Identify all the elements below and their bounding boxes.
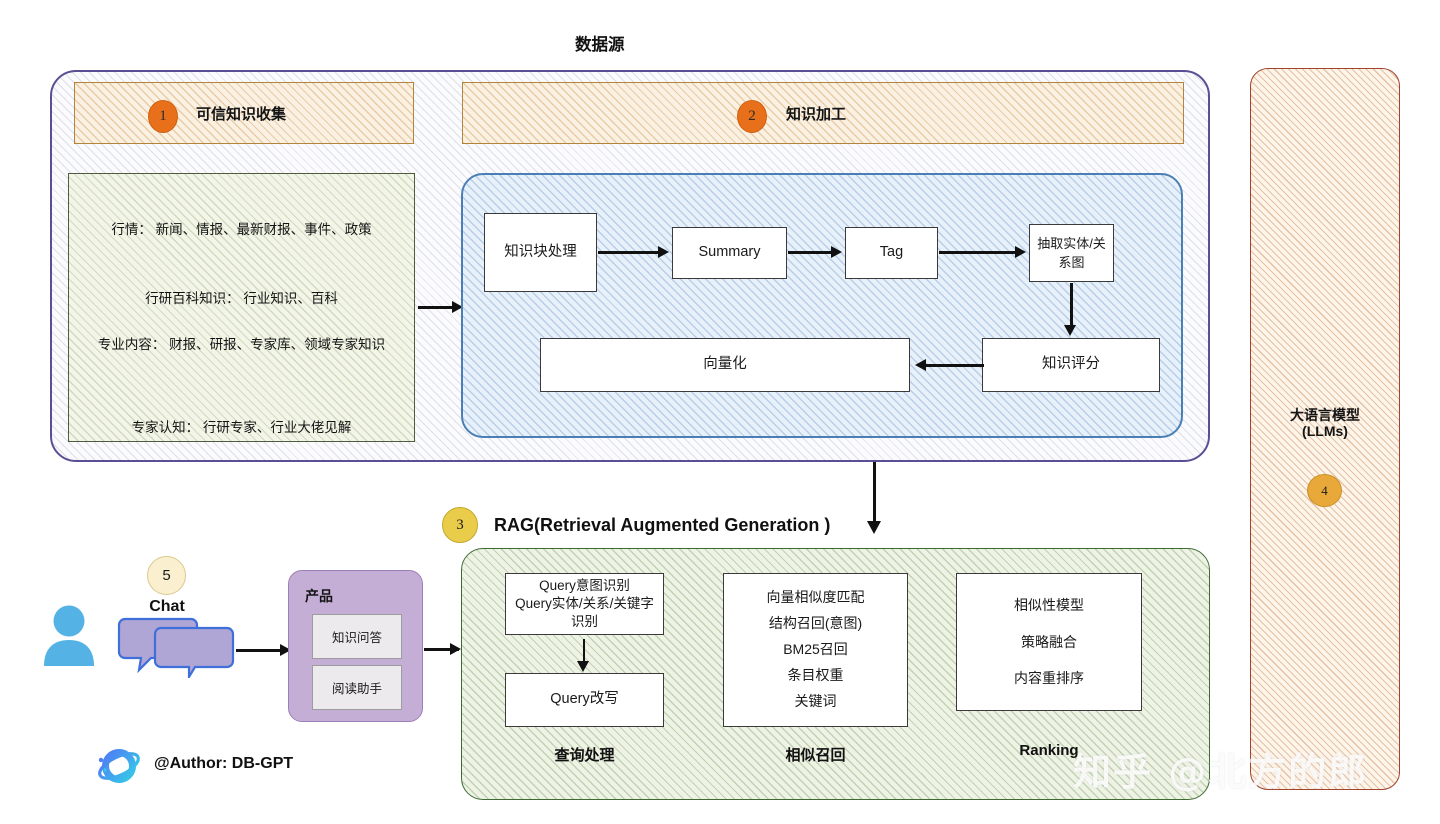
badge-1: 1 [148, 100, 178, 133]
pipeline-node-vector[interactable]: 向量化 [540, 338, 910, 392]
arrow-tag-entity-head [1015, 246, 1026, 258]
rag-box-recall-line4: 条目权重 [788, 663, 844, 689]
page-title: 数据源 [575, 31, 625, 55]
rag-box-query-rewrite[interactable]: Query改写 [505, 673, 664, 727]
arrow-entity-score [1070, 283, 1073, 327]
author-label: @Author: DB-GPT [154, 755, 293, 773]
product-item-qa[interactable]: 知识问答 [312, 614, 402, 659]
pipeline-node-summary[interactable]: Summary [672, 227, 787, 279]
badge-5: 5 [147, 556, 186, 595]
rag-caption-recall: 相似召回 [723, 744, 908, 765]
rag-caption-query-processing: 查询处理 [505, 744, 664, 765]
arrow-product-to-rag-head [450, 643, 461, 655]
user-avatar-icon [40, 604, 98, 666]
source-line-4: 专家认知： 行研专家、行业大佬见解 [78, 416, 405, 436]
arrow-pipeline-to-rag [873, 462, 876, 524]
arrow-summary-tag [788, 251, 833, 254]
arrow-tag-entity [939, 251, 1017, 254]
pipeline-node-entity[interactable]: 抽取实体/关系图 [1029, 224, 1114, 282]
arrow-source-to-pipeline [418, 306, 454, 309]
rag-box-recall-line2: 结构召回(意图) [769, 611, 862, 637]
badge-3: 3 [442, 507, 478, 543]
rag-box-query-intent-line3: 识别 [571, 613, 598, 631]
rag-section-label: RAG(Retrieval Augmented Generation ) [494, 515, 830, 536]
llm-label-line2: (LLMs) [1250, 423, 1400, 439]
arrow-summary-tag-head [831, 246, 842, 258]
source-line-1: 行情： 新闻、情报、最新财报、事件、政策 [78, 218, 405, 238]
llm-label-line1: 大语言模型 [1250, 405, 1400, 425]
arrow-pipeline-to-rag-head [867, 521, 881, 534]
badge-4: 4 [1307, 474, 1342, 507]
product-item-reader[interactable]: 阅读助手 [312, 665, 402, 710]
arrow-chunk-summary-head [658, 246, 669, 258]
pipeline-node-tag[interactable]: Tag [845, 227, 938, 279]
pipeline-node-score[interactable]: 知识评分 [982, 338, 1160, 392]
rag-box-query-intent[interactable]: Query意图识别 Query实体/关系/关键字 识别 [505, 573, 664, 635]
badge-2: 2 [737, 100, 767, 133]
chat-label: Chat [127, 598, 207, 616]
rag-box-ranking-line1: 相似性模型 [1014, 587, 1084, 623]
diagram-canvas: 数据源 1 可信知识收集 2 知识加工 行情： 新闻、情报、最新财报、事件、政策… [0, 0, 1440, 824]
source-line-2: 行研百科知识： 行业知识、百科 [78, 287, 405, 307]
rag-caption-ranking: Ranking [956, 742, 1142, 759]
source-line-3: 专业内容： 财报、研报、专家库、领域专家知识 [82, 335, 401, 356]
arrow-score-vector [926, 364, 984, 367]
rag-box-ranking[interactable]: 相似性模型 策略融合 内容重排序 [956, 573, 1142, 711]
arrow-score-vector-head [915, 359, 926, 371]
arrow-intent-to-rewrite-head [577, 661, 589, 672]
arrow-chat-to-product [236, 649, 282, 652]
rag-box-ranking-line3: 内容重排序 [1014, 660, 1084, 696]
rag-box-recall-line3: BM25召回 [783, 637, 848, 663]
rag-box-ranking-line2: 策略融合 [1021, 624, 1077, 660]
knowledge-process-label: 知识加工 [786, 103, 846, 124]
chat-bubbles-icon [117, 616, 235, 678]
source-content-box [68, 173, 415, 442]
rag-box-query-intent-line1: Query意图识别 [539, 577, 630, 595]
rag-box-query-intent-line2: Query实体/关系/关键字 [515, 595, 654, 613]
rag-box-recall-line1: 向量相似度匹配 [767, 585, 865, 611]
arrow-chunk-summary [598, 251, 660, 254]
arrow-entity-score-head [1064, 325, 1076, 336]
knowledge-collect-label: 可信知识收集 [196, 103, 286, 124]
db-gpt-logo-icon [94, 744, 142, 788]
rag-box-recall-line5: 关键词 [795, 689, 837, 715]
rag-box-recall[interactable]: 向量相似度匹配 结构召回(意图) BM25召回 条目权重 关键词 [723, 573, 908, 727]
product-title: 产品 [305, 586, 333, 606]
pipeline-node-chunk[interactable]: 知识块处理 [484, 213, 597, 292]
